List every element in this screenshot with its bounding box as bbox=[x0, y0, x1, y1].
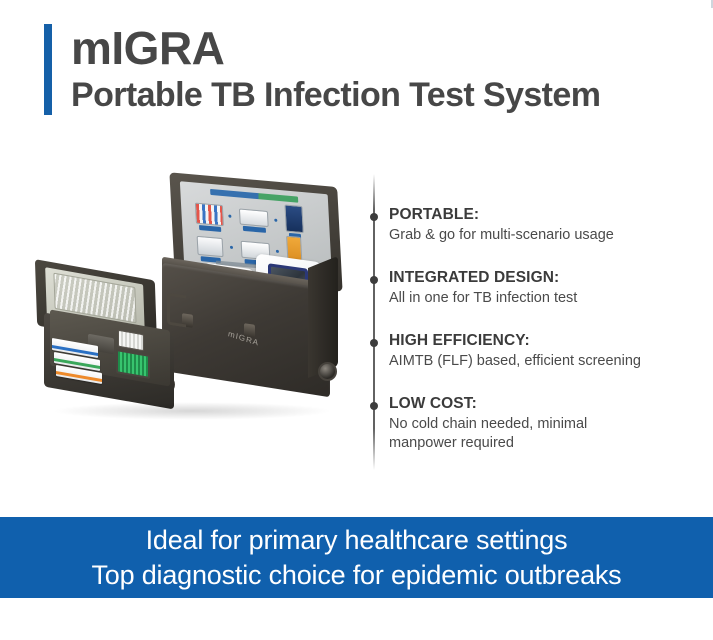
product-photo-stage: mIGRA bbox=[22, 166, 367, 476]
timeline-dot-icon bbox=[370, 402, 378, 410]
case-handle-icon bbox=[167, 292, 186, 327]
feature-title: PORTABLE: bbox=[389, 206, 696, 223]
poster-title-band bbox=[210, 189, 298, 203]
poster-step-analyzer-icon bbox=[197, 236, 224, 257]
large-case-side-panel bbox=[308, 256, 338, 378]
poster-step-reader-icon bbox=[284, 204, 303, 233]
feature-text-group: INTEGRATED DESIGN: All in one for TB inf… bbox=[389, 269, 696, 308]
timeline-dot-icon bbox=[370, 276, 378, 284]
poster-connector-dot bbox=[230, 246, 233, 249]
page-subtitle: Portable TB Infection Test System bbox=[71, 75, 600, 115]
feature-text-group: LOW COST: No cold chain needed, minimal … bbox=[389, 395, 696, 452]
feature-item-integrated-design: INTEGRATED DESIGN: All in one for TB inf… bbox=[370, 269, 696, 308]
page-title: mIGRA bbox=[71, 24, 600, 73]
feature-item-low-cost: LOW COST: No cold chain needed, minimal … bbox=[370, 395, 696, 452]
banner-line-1: Ideal for primary healthcare settings bbox=[146, 523, 568, 558]
header-text-group: mIGRA Portable TB Infection Test System bbox=[71, 24, 600, 115]
poster-connector-dot bbox=[276, 250, 279, 253]
feature-description: All in one for TB infection test bbox=[389, 289, 696, 307]
main-content: mIGRA PORTABLE: bbox=[0, 160, 713, 500]
feature-text-group: PORTABLE: Grab & go for multi-scenario u… bbox=[389, 206, 696, 245]
feature-item-high-efficiency: HIGH EFFICIENCY: AIMTB (FLF) based, effi… bbox=[370, 332, 696, 371]
poster-step-reagent-strip-icon bbox=[195, 203, 224, 227]
feature-list: PORTABLE: Grab & go for multi-scenario u… bbox=[370, 174, 700, 484]
poster-connector-dot bbox=[274, 219, 277, 222]
timeline-dot-icon bbox=[370, 339, 378, 347]
feature-title: LOW COST: bbox=[389, 395, 696, 412]
product-shadow bbox=[52, 402, 332, 420]
feature-description: AIMTB (FLF) based, efficient screening bbox=[389, 352, 696, 370]
feature-description: No cold chain needed, minimal manpower r… bbox=[389, 415, 696, 452]
feature-description: Grab & go for multi-scenario usage bbox=[389, 226, 696, 244]
case-wheel-icon bbox=[318, 362, 337, 381]
feature-item-portable: PORTABLE: Grab & go for multi-scenario u… bbox=[370, 206, 696, 245]
feature-text-group: HIGH EFFICIENCY: AIMTB (FLF) based, effi… bbox=[389, 332, 696, 371]
feature-title: HIGH EFFICIENCY: bbox=[389, 332, 696, 349]
feature-title: INTEGRATED DESIGN: bbox=[389, 269, 696, 286]
product-photo: mIGRA bbox=[22, 166, 367, 476]
banner-line-2: Top diagnostic choice for epidemic outbr… bbox=[91, 558, 621, 593]
timeline-dot-icon bbox=[370, 213, 378, 221]
case-latch-icon bbox=[244, 323, 255, 338]
header-accent-bar bbox=[44, 24, 52, 115]
page-header: mIGRA Portable TB Infection Test System bbox=[44, 24, 600, 115]
bottom-banner: Ideal for primary healthcare settings To… bbox=[0, 517, 713, 598]
poster-connector-dot bbox=[228, 215, 231, 218]
poster-step-cartridge-icon bbox=[239, 208, 269, 227]
